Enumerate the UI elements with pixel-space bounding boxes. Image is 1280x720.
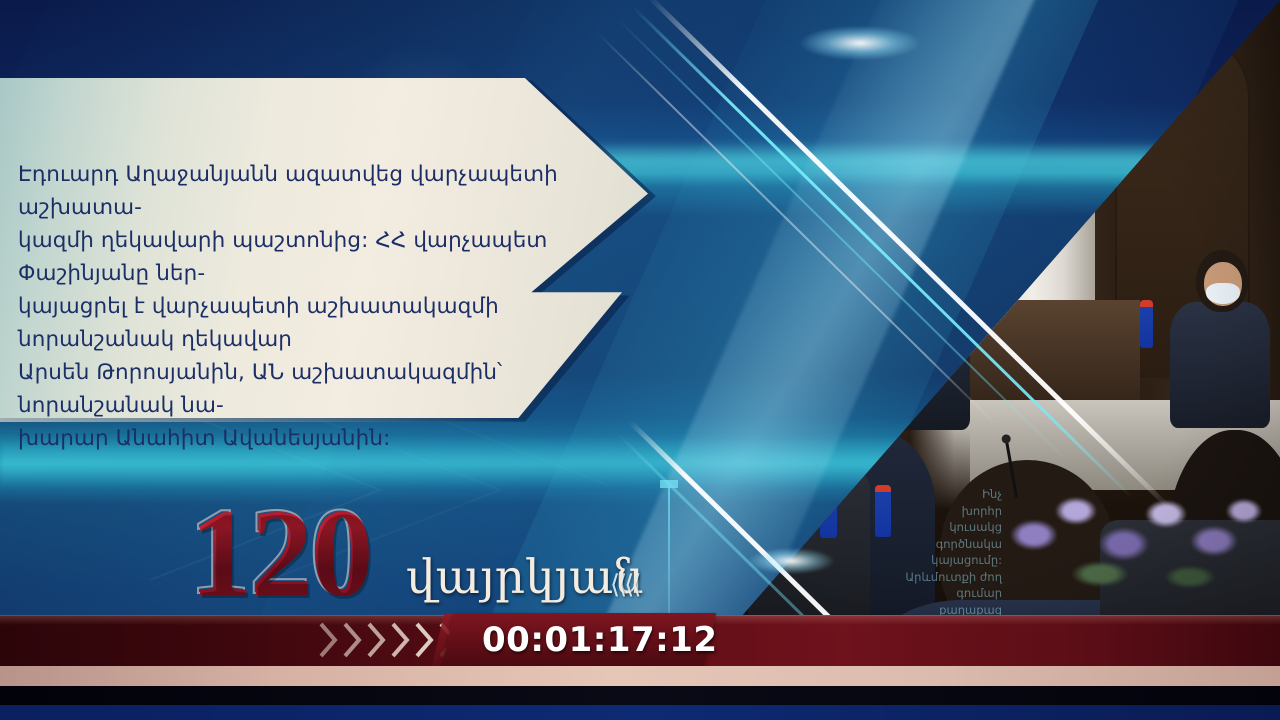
broadcast-frame: Ինչ խորհր կուսակց գործնակա կայացումը: Ար… [0, 0, 1280, 720]
program-title-chevrons-icon: ⟨⟨⟨⟨ [610, 570, 639, 600]
program-number: 120 [190, 492, 372, 617]
chevron-right-icon [414, 621, 436, 659]
chevron-right-icon [390, 621, 412, 659]
lower-third-black-bar [0, 686, 1280, 705]
countdown-timer: 00:01:17:12 [482, 619, 712, 661]
lower-third-navy-bar [0, 705, 1280, 720]
chevron-right-icon [366, 621, 388, 659]
chevron-right-icon [342, 621, 364, 659]
lower-third-peach-bar [0, 666, 1280, 686]
news-headline-text: Էդուարդ Աղաջանյանն ազատվեց վարչապետի աշխ… [18, 158, 626, 455]
program-title-word: վայրկյան [406, 552, 644, 604]
chevron-right-icon [318, 621, 340, 659]
